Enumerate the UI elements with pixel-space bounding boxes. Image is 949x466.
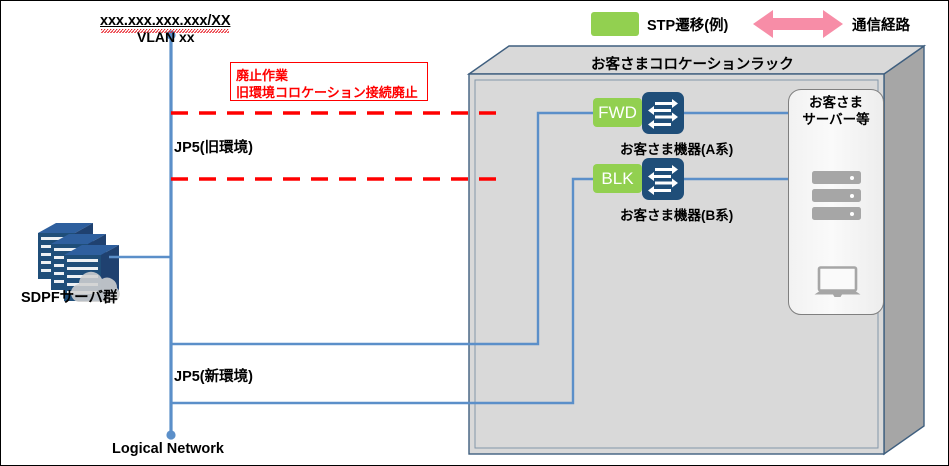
sdpf-server-group-label: SDPFサーバ群: [21, 286, 118, 307]
pink-double-arrow-icon: [753, 10, 843, 38]
vlan-label: VLAN xx: [137, 29, 195, 45]
server-bar-icon-2: [812, 189, 861, 202]
zone-label-old: JP5(旧環境): [174, 136, 253, 157]
laptop-icon: [813, 266, 862, 299]
network-switch-icon-a: [642, 92, 684, 134]
legend-stp-swatch: [591, 12, 639, 36]
network-switch-icon-b: [642, 158, 684, 200]
customer-server-panel-title: お客さま サーバー等: [788, 94, 884, 128]
ip-cidr-label: xxx.xxx.xxx.xxx/XX: [100, 13, 230, 29]
network-diagram-canvas: xxx.xxx.xxx.xxx/XX VLAN xx JP5(旧環境) JP5(…: [0, 0, 949, 466]
diagram-title: Logical Network: [112, 441, 224, 457]
rack-title: お客さまコロケーションラック: [591, 53, 794, 74]
callout-line-2: 旧環境コロケーション接続廃止: [236, 82, 418, 101]
stp-state-badge-blk: BLK: [593, 164, 642, 193]
server-bar-icon-3: [812, 207, 861, 220]
server-title-line-1: お客さま: [788, 94, 884, 111]
zone-label-new: JP5(新環境): [174, 365, 253, 386]
rack-side-face: [884, 46, 924, 454]
bus-endpoint-bottom: [166, 430, 175, 439]
device-label-a: お客さま機器(A系): [620, 138, 733, 158]
decommission-callout: 廃止作業 旧環境コロケーション接続廃止: [230, 62, 428, 101]
legend-path-label: 通信経路: [852, 14, 910, 35]
stp-state-badge-fwd: FWD: [593, 98, 642, 127]
device-label-b: お客さま機器(B系): [620, 204, 733, 224]
server-bar-icon-1: [812, 171, 861, 184]
server-title-line-2: サーバー等: [788, 111, 884, 128]
legend-stp-label: STP遷移(例): [647, 14, 728, 35]
